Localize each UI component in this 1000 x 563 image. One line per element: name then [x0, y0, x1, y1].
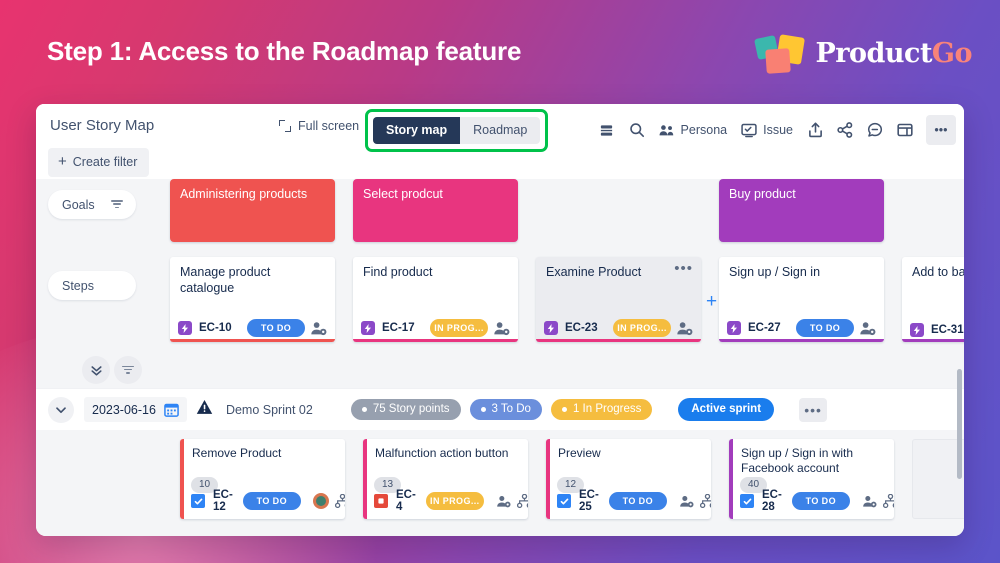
- step-card[interactable]: Examine Product ••• EC-23 IN PROG...: [536, 257, 701, 342]
- sprint-date-field[interactable]: 2023-06-16: [84, 397, 187, 422]
- hierarchy-icon[interactable]: [883, 494, 894, 508]
- avatar[interactable]: [313, 493, 329, 509]
- step-card-footer: EC-10 TO DO: [170, 319, 335, 337]
- sprint-collapse-button[interactable]: [48, 397, 74, 423]
- story-map-board: Goals Administering products Select prod…: [36, 179, 964, 536]
- inprogress-count-label: 1 In Progress: [573, 403, 641, 415]
- logo-wordmark: ProductGo: [815, 38, 972, 69]
- full-screen-button[interactable]: Full screen: [279, 119, 359, 133]
- goal-title: Select prodcut: [363, 187, 443, 201]
- step-color-bar: [353, 339, 518, 342]
- step-color-bar: [536, 339, 701, 342]
- step-title: Manage product catalogue: [170, 257, 335, 296]
- step-card[interactable]: Manage product catalogue EC-10 TO DO: [170, 257, 335, 342]
- task-type-icon: [191, 494, 205, 508]
- view-toggle[interactable]: Story map Roadmap: [373, 117, 540, 144]
- status-badge[interactable]: TO DO: [609, 492, 667, 510]
- tab-roadmap[interactable]: Roadmap: [460, 117, 540, 144]
- full-screen-label: Full screen: [298, 119, 359, 133]
- app-header: User Story Map Full screen Story map Roa…: [36, 104, 964, 179]
- epic-type-icon: [727, 321, 741, 335]
- goal-card[interactable]: Administering products: [170, 179, 335, 242]
- step-card-footer: EC-23 IN PROG...: [536, 319, 701, 337]
- step-color-bar: [719, 339, 884, 342]
- add-step-button[interactable]: +: [706, 291, 717, 313]
- epic-type-icon: [178, 321, 192, 335]
- chip-dot-icon: [362, 407, 367, 412]
- issue-key: EC-23: [565, 322, 598, 334]
- comment-icon[interactable]: [860, 115, 890, 145]
- issue-label: Issue: [763, 123, 793, 137]
- sprint-more-button[interactable]: •••: [799, 398, 827, 422]
- header-more-button[interactable]: •••: [926, 115, 956, 145]
- todo-count-chip[interactable]: 3 To Do: [470, 399, 542, 420]
- step-card[interactable]: Sign up / Sign in EC-27 TO DO: [719, 257, 884, 342]
- tab-story-map[interactable]: Story map: [373, 117, 460, 144]
- sprint-name: Demo Sprint 02: [226, 403, 313, 417]
- logo-squares-icon: [754, 32, 810, 74]
- chip-dot-icon: [562, 407, 567, 412]
- steps-lane-button[interactable]: Steps: [48, 271, 136, 300]
- goals-lane-label: Goals: [62, 198, 95, 212]
- status-badge[interactable]: TO DO: [796, 319, 854, 337]
- status-badge[interactable]: IN PROG...: [430, 319, 488, 337]
- story-points-label: 75 Story points: [373, 403, 450, 415]
- logo-word-go: Go: [932, 38, 972, 69]
- story-card-footer: EC-28 TO DO: [729, 489, 894, 513]
- epic-type-icon: [361, 321, 375, 335]
- create-filter-label: Create filter: [73, 155, 138, 169]
- issue-button[interactable]: Issue: [734, 115, 800, 145]
- story-card[interactable]: Sign up / Sign in with Facebook account …: [729, 439, 894, 519]
- issue-key: EC-17: [382, 322, 415, 334]
- view-toggle-highlight: Story map Roadmap: [365, 109, 548, 152]
- story-cards-row: Remove Product 10 EC-12 TO DO Malfunctio…: [36, 430, 964, 536]
- header-toolbar: Persona Issue •••: [592, 115, 956, 145]
- bug-type-icon: [374, 494, 388, 508]
- app-window: User Story Map Full screen Story map Roa…: [36, 104, 964, 536]
- epic-type-icon: [910, 323, 924, 337]
- warning-icon[interactable]: [196, 399, 213, 420]
- issue-key: EC-28: [762, 489, 782, 513]
- status-badge[interactable]: IN PROG...: [426, 492, 484, 510]
- status-badge[interactable]: IN PROG...: [613, 319, 671, 337]
- board-filter-button[interactable]: [114, 356, 142, 384]
- todo-count-label: 3 To Do: [492, 403, 531, 415]
- calendar-icon: [164, 402, 179, 417]
- assignee-icon[interactable]: [679, 494, 694, 509]
- share-icon[interactable]: [830, 115, 860, 145]
- window-icon[interactable]: [890, 115, 920, 145]
- task-type-icon: [740, 494, 754, 508]
- assignee-icon[interactable]: [496, 494, 511, 509]
- step-color-bar: [170, 339, 335, 342]
- story-card[interactable]: Remove Product 10 EC-12 TO DO: [180, 439, 345, 519]
- goal-card[interactable]: Select prodcut: [353, 179, 518, 242]
- sprint-date-value: 2023-06-16: [92, 403, 156, 417]
- step-card-footer: EC-31: [902, 323, 964, 337]
- step-title: Add to basket: [902, 257, 964, 281]
- page-title: Step 1: Access to the Roadmap feature: [47, 36, 521, 67]
- story-card[interactable]: Preview 12 EC-25 TO DO: [546, 439, 711, 519]
- productgo-logo: ProductGo: [754, 32, 972, 74]
- issue-key: EC-4: [396, 489, 416, 513]
- step-title: Find product: [353, 257, 518, 281]
- issue-key: EC-25: [579, 489, 599, 513]
- step-title: Sign up / Sign in: [719, 257, 884, 281]
- story-card[interactable]: Malfunction action button 13 EC-4 IN PRO…: [363, 439, 528, 519]
- step-card-footer: EC-17 IN PROG...: [353, 319, 518, 337]
- story-points-chip[interactable]: 75 Story points: [351, 399, 461, 420]
- hierarchy-icon[interactable]: [700, 494, 711, 508]
- story-card-footer: EC-12 TO DO: [180, 489, 345, 513]
- search-icon[interactable]: [622, 115, 652, 145]
- persona-button[interactable]: Persona: [652, 115, 735, 145]
- double-chevron-down-icon: [90, 364, 103, 377]
- app-title: User Story Map: [50, 117, 154, 134]
- banner: Step 1: Access to the Roadmap feature Pr…: [0, 0, 1000, 104]
- chevron-down-icon: [55, 404, 67, 416]
- hierarchy-icon[interactable]: [335, 494, 345, 508]
- step-card-footer: EC-27 TO DO: [719, 319, 884, 337]
- card-more-icon[interactable]: •••: [674, 264, 693, 274]
- steps-lane-label: Steps: [62, 279, 94, 293]
- goal-title: Buy product: [729, 187, 796, 201]
- story-title: Preview: [546, 439, 711, 461]
- story-card-footer: EC-4 IN PROG...: [363, 489, 528, 513]
- rows-icon[interactable]: [592, 115, 622, 145]
- status-badge[interactable]: TO DO: [792, 492, 850, 510]
- story-title: Sign up / Sign in with Facebook account: [729, 439, 894, 476]
- expand-icon: [279, 120, 291, 132]
- board-controls: [36, 352, 964, 388]
- assignee-icon[interactable]: [493, 320, 510, 337]
- assignee-icon[interactable]: [676, 320, 693, 337]
- logo-word-product: Product: [815, 38, 931, 69]
- assignee-icon[interactable]: [859, 320, 876, 337]
- persona-icon: [659, 123, 675, 137]
- epic-type-icon: [544, 321, 558, 335]
- goal-card[interactable]: Buy product: [719, 179, 884, 242]
- task-type-icon: [557, 494, 571, 508]
- status-badge[interactable]: TO DO: [243, 492, 301, 510]
- filter-icon: [111, 200, 123, 209]
- step-card[interactable]: Add to basket EC-31: [902, 257, 964, 342]
- step-color-bar: [902, 339, 964, 342]
- issue-icon: [741, 123, 757, 138]
- chip-dot-icon: [481, 407, 486, 412]
- hierarchy-icon[interactable]: [517, 494, 528, 508]
- sprint-chips: 75 Story points 3 To Do 1 In Progress Ac…: [351, 398, 827, 422]
- issue-key: EC-12: [213, 489, 233, 513]
- story-title: Remove Product: [180, 439, 345, 461]
- create-filter-button[interactable]: + Create filter: [48, 148, 149, 177]
- story-card-footer: EC-25 TO DO: [546, 489, 711, 513]
- issue-key: EC-27: [748, 322, 781, 334]
- goal-title: Administering products: [180, 187, 307, 201]
- plus-icon: +: [58, 156, 67, 168]
- issue-key: EC-10: [199, 322, 232, 334]
- persona-label: Persona: [681, 123, 728, 137]
- inprogress-count-chip[interactable]: 1 In Progress: [551, 399, 652, 420]
- vertical-scrollbar[interactable]: [957, 369, 962, 479]
- goals-lane-button[interactable]: Goals: [48, 190, 136, 219]
- filter-icon: [122, 366, 134, 375]
- assignee-icon[interactable]: [310, 320, 327, 337]
- sprint-header: 2023-06-16 Demo Sprint 02 75 Story point…: [36, 388, 964, 430]
- status-badge[interactable]: TO DO: [247, 319, 305, 337]
- issue-key: EC-31: [931, 324, 964, 336]
- active-sprint-button[interactable]: Active sprint: [678, 398, 774, 421]
- step-card[interactable]: Find product EC-17 IN PROG...: [353, 257, 518, 342]
- story-title: Malfunction action button: [363, 439, 528, 461]
- export-icon[interactable]: [800, 115, 830, 145]
- assignee-icon[interactable]: [862, 494, 877, 509]
- goals-row: Goals Administering products Select prod…: [36, 179, 964, 257]
- collapse-all-button[interactable]: [82, 356, 110, 384]
- steps-row: Steps Manage product catalogue EC-10 TO …: [36, 257, 964, 352]
